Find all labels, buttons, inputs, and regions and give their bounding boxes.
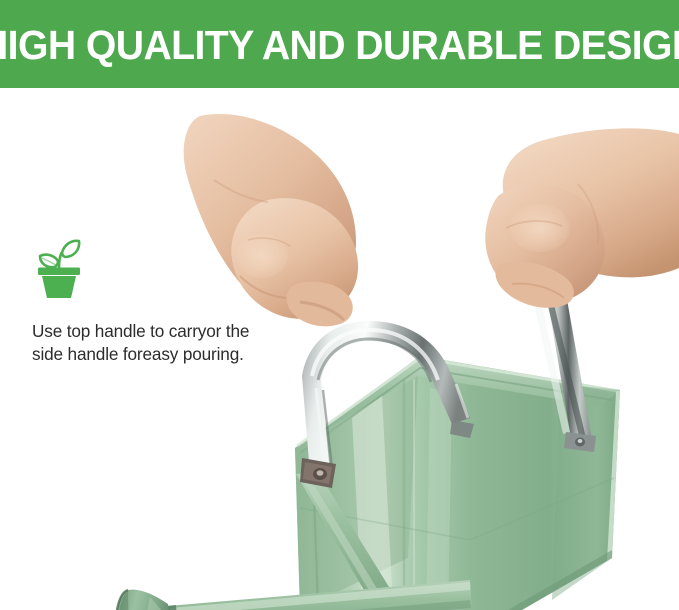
feature-caption: Use top handle to carryor the side handl… bbox=[32, 320, 284, 365]
header-banner: HIGH QUALITY AND DURABLE DESIGN bbox=[0, 0, 679, 88]
feature-block: Use top handle to carryor the side handl… bbox=[32, 238, 294, 365]
potted-plant-icon bbox=[32, 238, 86, 300]
product-feature-image: HIGH QUALITY AND DURABLE DESIGN bbox=[0, 0, 679, 610]
spout-rose bbox=[116, 590, 172, 610]
banner-title: HIGH QUALITY AND DURABLE DESIGN bbox=[0, 23, 679, 66]
right-hand bbox=[485, 128, 679, 307]
